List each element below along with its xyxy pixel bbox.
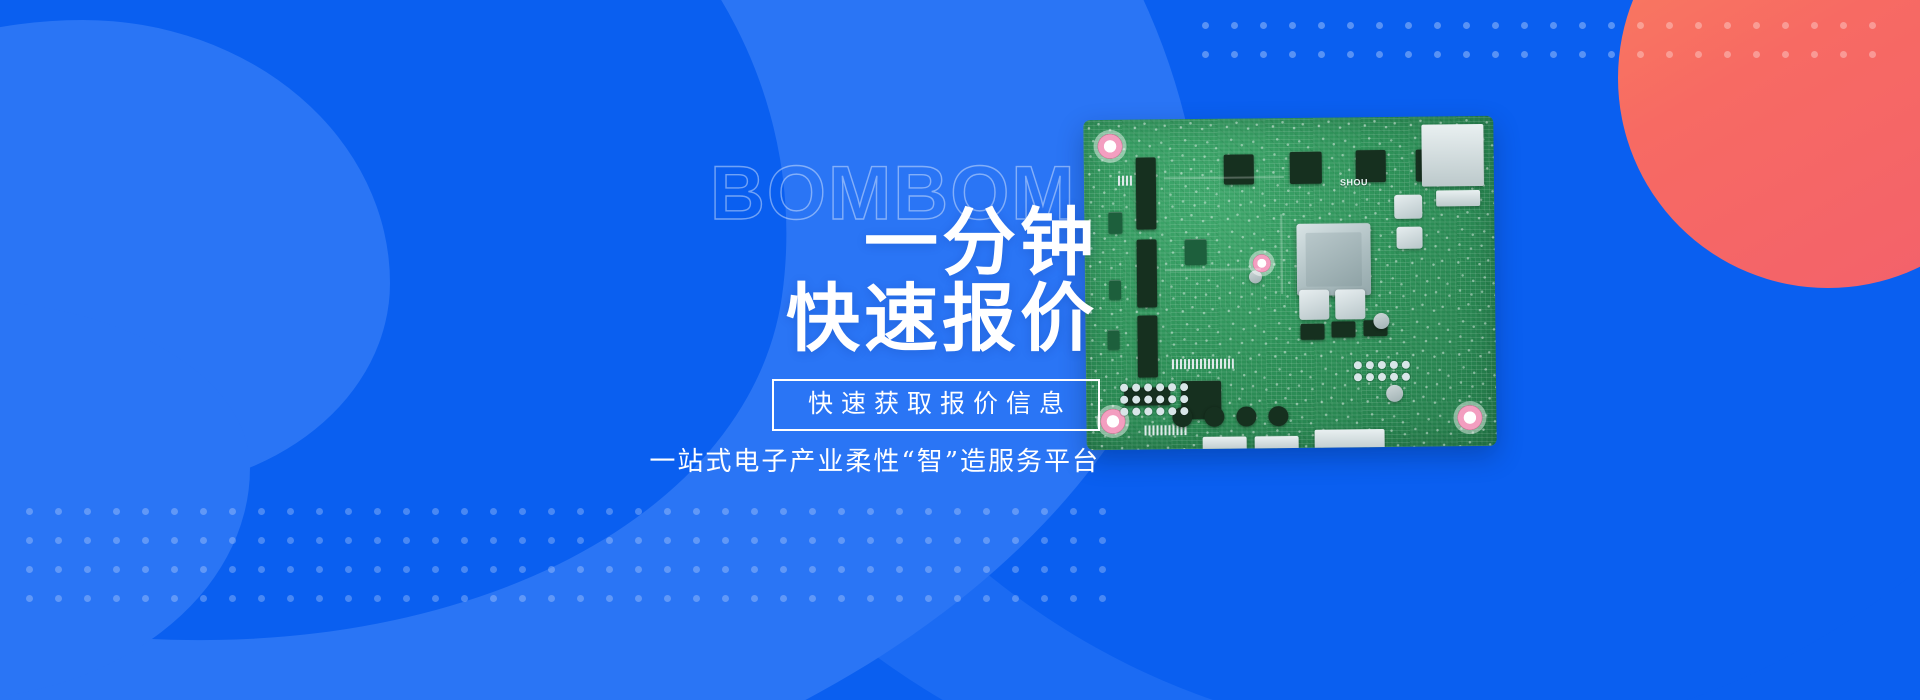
dot	[113, 566, 120, 573]
dot	[867, 508, 874, 515]
dot	[925, 595, 932, 602]
dot	[1579, 22, 1586, 29]
pcb-capacitor	[1373, 313, 1389, 329]
dot	[664, 537, 671, 544]
pcb-pad-array	[1120, 383, 1188, 416]
dot	[519, 566, 526, 573]
dot-grid-top-right	[1202, 22, 1898, 80]
dot	[1550, 22, 1557, 29]
dot	[200, 566, 207, 573]
dot	[26, 537, 33, 544]
dot	[316, 595, 323, 602]
dot	[780, 508, 787, 515]
pcb-ic-chip	[1224, 154, 1254, 184]
promo-banner: SHOU BOMBOM 一分钟 快速报价 快速获取报价信息 一站式电子产业柔性“…	[0, 0, 1920, 700]
dot	[316, 537, 323, 544]
dot	[490, 566, 497, 573]
dot	[490, 595, 497, 602]
dot	[635, 537, 642, 544]
dot	[664, 566, 671, 573]
dot	[1695, 22, 1702, 29]
dot	[171, 508, 178, 515]
dot-row	[1202, 51, 1898, 80]
pcb-component	[1185, 239, 1207, 265]
dot	[1434, 22, 1441, 29]
dot	[780, 595, 787, 602]
pcb-ic-chip	[1137, 315, 1158, 377]
dot	[751, 537, 758, 544]
dot	[171, 595, 178, 602]
dot	[896, 566, 903, 573]
dot	[1070, 537, 1077, 544]
dot	[258, 537, 265, 544]
dot	[954, 595, 961, 602]
dot	[316, 508, 323, 515]
dot	[403, 508, 410, 515]
pcb-inductor	[1394, 195, 1422, 219]
dot	[229, 537, 236, 544]
dot	[84, 537, 91, 544]
dot	[606, 595, 613, 602]
dot	[577, 508, 584, 515]
pcb-capacitor	[1386, 385, 1403, 402]
dot	[983, 595, 990, 602]
dot	[1782, 22, 1789, 29]
pcb-pin-row	[1118, 176, 1132, 186]
dot	[606, 566, 613, 573]
pcb-circuit-board-image: SHOU	[1083, 116, 1496, 450]
dot	[113, 537, 120, 544]
dot	[171, 537, 178, 544]
dot	[1405, 22, 1412, 29]
dot	[1579, 51, 1586, 58]
dot	[1869, 22, 1876, 29]
dot	[983, 537, 990, 544]
dot-row	[26, 566, 1128, 595]
dot	[142, 537, 149, 544]
dot	[1231, 22, 1238, 29]
dot	[374, 595, 381, 602]
dot	[26, 566, 33, 573]
dot	[171, 566, 178, 573]
dot	[1099, 537, 1106, 544]
dot-row	[26, 508, 1128, 537]
headline-line-1: 一分钟	[640, 205, 1098, 281]
dot	[26, 595, 33, 602]
dot-row	[1202, 22, 1898, 51]
dot	[548, 537, 555, 544]
dot	[461, 537, 468, 544]
dot	[751, 566, 758, 573]
dot	[258, 508, 265, 515]
dot	[1666, 22, 1673, 29]
dot	[113, 595, 120, 602]
dot	[374, 508, 381, 515]
dot	[1231, 51, 1238, 58]
pcb-processor-chip	[1296, 223, 1371, 296]
dot	[693, 537, 700, 544]
dot	[954, 566, 961, 573]
dot	[374, 537, 381, 544]
dot	[838, 595, 845, 602]
dot	[1753, 51, 1760, 58]
dot	[780, 537, 787, 544]
dot	[1811, 22, 1818, 29]
pcb-mounting-hole	[1457, 405, 1482, 430]
dot	[258, 566, 265, 573]
dot	[432, 537, 439, 544]
dot	[838, 508, 845, 515]
dot	[983, 508, 990, 515]
pcb-ic-chip	[1137, 239, 1158, 307]
dot	[1099, 566, 1106, 573]
dot	[1318, 22, 1325, 29]
dot	[461, 508, 468, 515]
dot	[780, 566, 787, 573]
pcb-ic-chip	[1300, 324, 1324, 340]
dot	[403, 595, 410, 602]
dot	[664, 508, 671, 515]
dot	[1202, 51, 1209, 58]
dot	[287, 537, 294, 544]
dot	[606, 508, 613, 515]
dot	[287, 508, 294, 515]
dot	[722, 566, 729, 573]
dot	[1012, 566, 1019, 573]
dot	[925, 537, 932, 544]
dot	[461, 595, 468, 602]
dot	[548, 508, 555, 515]
pcb-ic-chip	[1136, 157, 1157, 229]
dot	[374, 566, 381, 573]
dot	[1260, 51, 1267, 58]
dot	[1041, 508, 1048, 515]
dot	[577, 537, 584, 544]
dot	[1811, 51, 1818, 58]
dot	[345, 537, 352, 544]
dot	[809, 595, 816, 602]
pcb-inductor	[1335, 289, 1365, 319]
dot	[548, 566, 555, 573]
dot	[635, 595, 642, 602]
dot	[403, 566, 410, 573]
dot	[1550, 51, 1557, 58]
dot	[113, 508, 120, 515]
dot	[1318, 51, 1325, 58]
dot	[925, 566, 932, 573]
pcb-inductor	[1396, 227, 1422, 249]
dot	[635, 508, 642, 515]
banner-text-block: BOMBOM 一分钟 快速报价 快速获取报价信息 一站式电子产业柔性“智”造服务…	[640, 150, 1100, 479]
dot	[722, 537, 729, 544]
dot	[287, 566, 294, 573]
dot	[200, 595, 207, 602]
dot	[1521, 22, 1528, 29]
dot	[519, 537, 526, 544]
dot	[1289, 51, 1296, 58]
dot	[838, 566, 845, 573]
dot	[461, 566, 468, 573]
dot	[1070, 508, 1077, 515]
dot	[925, 508, 932, 515]
dot	[1463, 22, 1470, 29]
dot	[519, 595, 526, 602]
dot	[432, 595, 439, 602]
dot	[983, 566, 990, 573]
dot	[635, 566, 642, 573]
dot-grid-bottom-left	[26, 508, 1128, 624]
dot	[142, 508, 149, 515]
dot	[867, 595, 874, 602]
pcb-silkscreen-label: SHOU	[1340, 177, 1368, 187]
dot	[1012, 537, 1019, 544]
dot	[809, 566, 816, 573]
dot	[84, 595, 91, 602]
dot	[1012, 595, 1019, 602]
dot	[548, 595, 555, 602]
dot	[1666, 51, 1673, 58]
dot	[1405, 51, 1412, 58]
pcb-audio-jack	[1236, 406, 1256, 426]
dot	[954, 508, 961, 515]
dot	[200, 537, 207, 544]
dot	[490, 537, 497, 544]
pcb-header-connector	[1203, 436, 1247, 450]
dot	[1463, 51, 1470, 58]
dot	[1347, 22, 1354, 29]
dot	[84, 566, 91, 573]
dot	[722, 508, 729, 515]
dot	[1070, 566, 1077, 573]
dot	[1070, 595, 1077, 602]
dot	[55, 537, 62, 544]
dot	[55, 508, 62, 515]
pcb-io-connector	[1315, 429, 1385, 450]
dot	[1637, 22, 1644, 29]
dot	[55, 595, 62, 602]
dot	[1724, 22, 1731, 29]
dot	[751, 508, 758, 515]
dot	[1724, 51, 1731, 58]
dot	[838, 537, 845, 544]
dot	[345, 508, 352, 515]
dot	[490, 508, 497, 515]
pcb-usb-connector	[1436, 190, 1480, 206]
dot	[287, 595, 294, 602]
dot	[1041, 566, 1048, 573]
pcb-ic-chip	[1290, 152, 1322, 184]
dot	[142, 595, 149, 602]
dot	[1840, 51, 1847, 58]
pcb-audio-jack	[1268, 406, 1288, 426]
dot	[867, 537, 874, 544]
dot	[606, 537, 613, 544]
dot	[26, 508, 33, 515]
dot	[954, 537, 961, 544]
get-quote-button[interactable]: 快速获取报价信息	[772, 379, 1100, 431]
dot	[1869, 51, 1876, 58]
dot	[1376, 51, 1383, 58]
dot	[1289, 22, 1296, 29]
dot	[1041, 537, 1048, 544]
dot	[229, 508, 236, 515]
dot	[1782, 51, 1789, 58]
banner-subtitle: 一站式电子产业柔性“智”造服务平台	[640, 447, 1100, 478]
pcb-component	[1109, 280, 1121, 300]
dot	[1434, 51, 1441, 58]
pcb-audio-jack	[1204, 407, 1224, 427]
dot	[432, 566, 439, 573]
dot-row	[26, 537, 1128, 566]
dot	[403, 537, 410, 544]
pcb-pad-array	[1354, 361, 1410, 382]
pcb-rj45-connector	[1421, 124, 1484, 187]
dot	[896, 537, 903, 544]
page-title: 一分钟 快速报价	[640, 205, 1100, 357]
headline-line-2: 快速报价	[640, 281, 1098, 357]
dot	[1099, 595, 1106, 602]
dot	[896, 508, 903, 515]
dot	[693, 595, 700, 602]
dot	[1041, 595, 1048, 602]
dot	[577, 595, 584, 602]
dot	[1012, 508, 1019, 515]
dot	[258, 595, 265, 602]
dot	[693, 508, 700, 515]
dot	[1492, 22, 1499, 29]
dot	[432, 508, 439, 515]
dot	[751, 595, 758, 602]
dot	[1260, 22, 1267, 29]
dot	[1376, 22, 1383, 29]
pcb-substrate: SHOU	[1083, 116, 1496, 450]
dot	[664, 595, 671, 602]
dot	[1202, 22, 1209, 29]
dot	[229, 566, 236, 573]
dot	[867, 566, 874, 573]
dot	[577, 566, 584, 573]
dot	[1753, 22, 1760, 29]
dot	[809, 537, 816, 544]
dot	[1637, 51, 1644, 58]
dot	[316, 566, 323, 573]
dot	[1695, 51, 1702, 58]
dot	[1521, 51, 1528, 58]
dot	[1099, 508, 1106, 515]
pcb-component	[1108, 212, 1122, 234]
dot	[896, 595, 903, 602]
dot	[519, 508, 526, 515]
dot	[809, 508, 816, 515]
dot	[345, 595, 352, 602]
pcb-ic-chip	[1331, 321, 1355, 337]
dot	[722, 595, 729, 602]
pcb-mounting-hole	[1097, 134, 1122, 159]
pcb-pin-row	[1172, 359, 1234, 370]
dot	[1840, 22, 1847, 29]
dot	[229, 595, 236, 602]
dot	[84, 508, 91, 515]
pcb-inductor	[1299, 290, 1329, 320]
dot	[1347, 51, 1354, 58]
dot	[55, 566, 62, 573]
dot	[693, 566, 700, 573]
dot	[142, 566, 149, 573]
dot	[1492, 51, 1499, 58]
dot	[1608, 22, 1615, 29]
dot-row	[26, 595, 1128, 624]
dot	[1608, 51, 1615, 58]
dot	[345, 566, 352, 573]
pcb-component	[1107, 330, 1119, 350]
dot	[200, 508, 207, 515]
